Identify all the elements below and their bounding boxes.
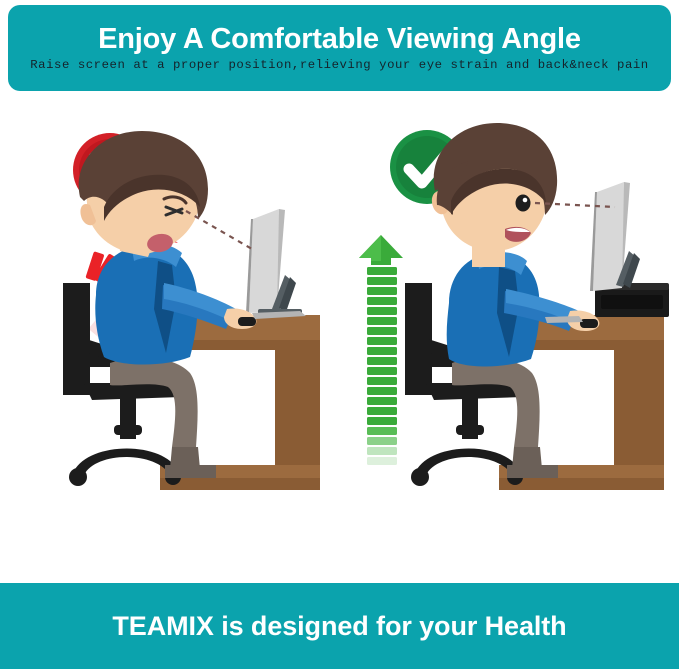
keyboard-icon <box>545 316 583 323</box>
green-up-arrow <box>359 235 403 465</box>
mouse-icon <box>580 319 598 328</box>
footer-title: TEAMIX is designed for your Health <box>112 611 566 642</box>
monitor <box>246 209 302 316</box>
product-infographic: Enjoy A Comfortable Viewing Angle Raise … <box>0 0 679 669</box>
illustration-area <box>0 95 679 581</box>
panel-wrong-posture <box>0 95 340 581</box>
page-title: Enjoy A Comfortable Viewing Angle <box>98 24 581 54</box>
monitor <box>590 182 640 291</box>
footer-banner: TEAMIX is designed for your Health <box>0 583 679 669</box>
dashed-sight-line <box>186 211 252 249</box>
panel-correct-posture <box>339 95 679 581</box>
header-banner: Enjoy A Comfortable Viewing Angle Raise … <box>8 5 671 91</box>
page-subtitle: Raise screen at a proper position,reliev… <box>30 59 649 73</box>
upright-man <box>432 123 600 478</box>
mouse-icon <box>238 317 256 326</box>
